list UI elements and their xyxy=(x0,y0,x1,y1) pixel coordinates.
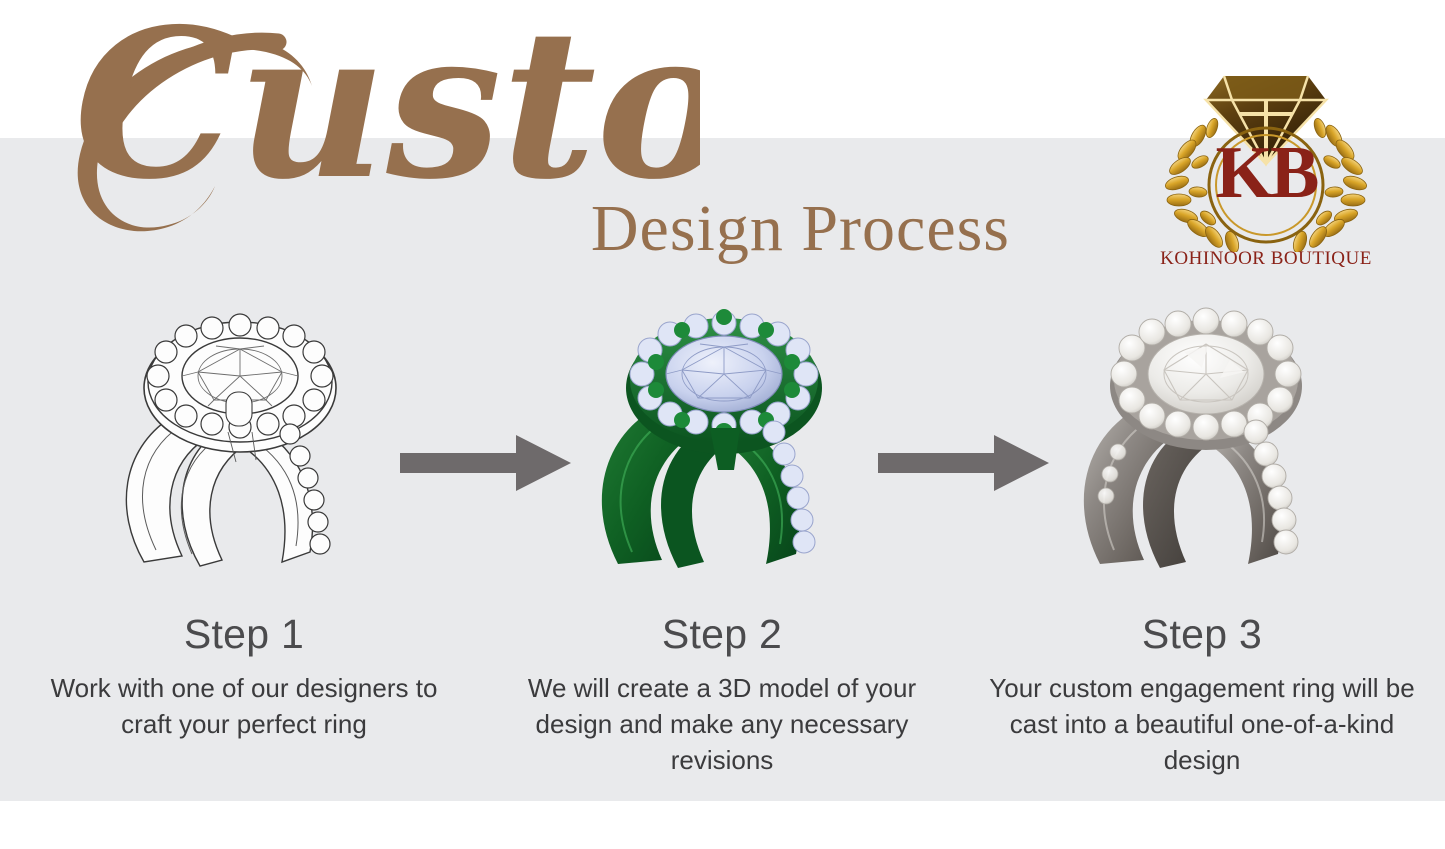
step-2-description: We will create a 3D model of your design… xyxy=(482,671,962,779)
step-3-title: Step 3 xyxy=(962,612,1442,657)
infographic-canvas: Custom Design Process xyxy=(0,0,1445,849)
logo-monogram: KB xyxy=(1150,136,1382,210)
ring-finished-illustration xyxy=(1058,300,1348,580)
headline-design-process: Design Process xyxy=(0,196,1010,262)
step-3-description: Your custom engagement ring will be cast… xyxy=(962,671,1442,779)
background-band-bottom xyxy=(0,801,1445,849)
ring-sketch-illustration xyxy=(96,300,386,580)
steps-artwork-row xyxy=(0,300,1445,590)
step-1-description: Work with one of our designers to craft … xyxy=(4,671,484,743)
logo-wordmark: KOHINOOR BOUTIQUE xyxy=(1150,248,1382,270)
step-1-title: Step 1 xyxy=(4,612,484,657)
ring-cad-model-illustration xyxy=(578,300,868,580)
arrow-step1-to-step2-icon xyxy=(398,432,573,494)
step-1-caption: Step 1 Work with one of our designers to… xyxy=(4,612,484,743)
step-2-caption: Step 2 We will create a 3D model of your… xyxy=(482,612,962,779)
step-3-caption: Step 3 Your custom engagement ring will … xyxy=(962,612,1442,779)
arrow-step2-to-step3-icon xyxy=(876,432,1051,494)
brand-logo: KB KOHINOOR BOUTIQUE xyxy=(1150,52,1382,284)
step-2-title: Step 2 xyxy=(482,612,962,657)
